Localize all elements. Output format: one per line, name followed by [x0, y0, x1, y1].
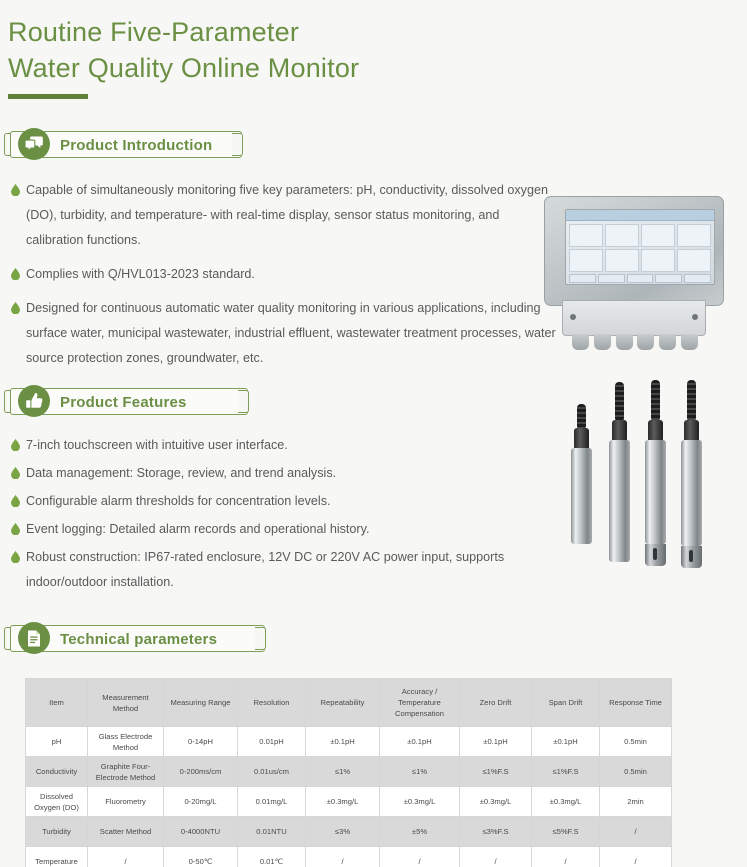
table-row: Turbidity Scatter Method 0-4000NTU 0.01N…	[26, 817, 672, 847]
speech-bubble-icon	[18, 128, 50, 160]
table-cell: Graphite Four-Electrode Method	[88, 757, 164, 787]
water-drop-bullet-icon	[11, 551, 20, 563]
screen-grid-cell	[605, 249, 639, 272]
cable-gland-row	[572, 334, 698, 350]
title-underline	[8, 94, 88, 99]
table-cell: 0.5min	[600, 727, 672, 757]
page-title-line-2: Water Quality Online Monitor	[8, 50, 747, 86]
section-banner-technical: Technical parameters	[4, 622, 747, 656]
table-cell: Temperature	[26, 847, 88, 867]
table-row: pH Glass Electrode Method 0-14pH 0.01pH …	[26, 727, 672, 757]
table-header-cell: Repeatability	[306, 679, 380, 727]
table-cell: /	[306, 847, 380, 867]
table-cell: ≤1%F.S	[532, 757, 600, 787]
list-item: Capable of simultaneously monitoring fiv…	[0, 178, 560, 253]
product-features-section: Product Features 7-inch touchscreen with…	[0, 385, 560, 598]
table-cell: /	[380, 847, 460, 867]
sensor-probe	[571, 404, 592, 544]
enclosure-screw-icon	[570, 314, 576, 320]
table-cell: ≤1%	[306, 757, 380, 787]
table-cell: ±0.1pH	[380, 727, 460, 757]
screen-grid-cell	[641, 224, 675, 247]
table-header-cell: Accuracy / Temperature Compensation	[380, 679, 460, 727]
technical-parameters-table: Item Measurement Method Measuring Range …	[25, 678, 672, 867]
table-cell: /	[532, 847, 600, 867]
banner-bracket-right	[255, 627, 266, 650]
screen-grid-cell	[641, 249, 675, 272]
table-cell: ±0.3mg/L	[306, 787, 380, 817]
table-cell: Fluorometry	[88, 787, 164, 817]
probe-barrel	[681, 440, 702, 546]
screen-grid-cell	[605, 224, 639, 247]
probe-cable	[615, 382, 624, 422]
page-title-line-1: Routine Five-Parameter	[8, 14, 747, 50]
product-introduction-section: Product Introduction Capable of simultan…	[0, 128, 560, 380]
water-drop-bullet-icon	[11, 495, 20, 507]
list-item-text: Complies with Q/HVL013-2023 standard.	[26, 267, 255, 281]
table-cell: ±5%	[380, 817, 460, 847]
document-icon	[18, 622, 50, 654]
probe-barrel	[645, 440, 666, 544]
cable-gland	[572, 334, 589, 350]
table-cell: 0.01us/cm	[238, 757, 306, 787]
probe-cable	[651, 380, 660, 422]
table-cell: ±0.1pH	[532, 727, 600, 757]
table-cell: /	[460, 847, 532, 867]
list-item-text: 7-inch touchscreen with intuitive user i…	[26, 438, 288, 452]
screen-grid-cell	[569, 224, 603, 247]
water-drop-bullet-icon	[11, 439, 20, 451]
probe-barrel	[571, 448, 592, 544]
table-cell: 2min	[600, 787, 672, 817]
table-row: Dissolved Oxygen (DO) Fluorometry 0-20mg…	[26, 787, 672, 817]
table-cell: 0.01NTU	[238, 817, 306, 847]
screen-grid-cell	[677, 249, 711, 272]
table-header-cell: Span Drift	[532, 679, 600, 727]
table-cell: 0.5min	[600, 757, 672, 787]
section-heading-features: Product Features	[60, 394, 187, 411]
controller-enclosure-lid	[544, 196, 724, 306]
section-heading-technical: Technical parameters	[60, 631, 217, 648]
probe-tip-guard	[645, 544, 666, 566]
table-cell: Turbidity	[26, 817, 88, 847]
section-banner-introduction: Product Introduction	[4, 128, 560, 162]
table-header-cell: Item	[26, 679, 88, 727]
sensor-probes-product-image	[563, 378, 747, 600]
screen-parameter-grid	[569, 224, 711, 272]
water-drop-bullet-icon	[11, 523, 20, 535]
table-cell: /	[88, 847, 164, 867]
list-item-text: Event logging: Detailed alarm records an…	[26, 522, 370, 536]
table-cell: 0.01℃	[238, 847, 306, 867]
table-cell: 0-14pH	[164, 727, 238, 757]
table-cell: ±0.3mg/L	[460, 787, 532, 817]
table-cell: 0.01pH	[238, 727, 306, 757]
page-title: Routine Five-Parameter Water Quality Onl…	[0, 0, 747, 99]
probe-cable	[577, 404, 586, 430]
sensor-probe	[681, 380, 702, 568]
table-header-cell: Zero Drift	[460, 679, 532, 727]
table-cell: ≤3%F.S	[460, 817, 532, 847]
controller-touchscreen	[565, 209, 715, 285]
probe-tip-slot	[653, 548, 657, 560]
thumbs-up-icon	[18, 385, 50, 417]
probe-neck	[684, 420, 699, 442]
table-cell: ≤3%	[306, 817, 380, 847]
screen-button	[655, 274, 682, 283]
screen-title-bar	[566, 210, 714, 221]
sensor-probe	[609, 382, 630, 562]
table-cell: Conductivity	[26, 757, 88, 787]
probe-neck	[574, 428, 589, 450]
table-cell: 0-200ms/cm	[164, 757, 238, 787]
banner-bracket-right	[238, 390, 249, 413]
table-cell: ≤1%F.S	[460, 757, 532, 787]
list-item: Data management: Storage, review, and tr…	[0, 461, 560, 486]
screen-grid-cell	[677, 224, 711, 247]
screen-button	[598, 274, 625, 283]
table-row: Conductivity Graphite Four-Electrode Met…	[26, 757, 672, 787]
list-item: Configurable alarm thresholds for concen…	[0, 489, 560, 514]
cable-gland	[681, 334, 698, 350]
water-drop-bullet-icon	[11, 302, 20, 314]
technical-parameters-section: Technical parameters Item Measurement Me…	[0, 622, 747, 867]
probe-cable	[687, 380, 696, 422]
cable-gland	[594, 334, 611, 350]
table-cell: 0-4000NTU	[164, 817, 238, 847]
sensor-probe	[645, 380, 666, 566]
list-item: Event logging: Detailed alarm records an…	[0, 517, 560, 542]
list-item-text: Capable of simultaneously monitoring fiv…	[26, 183, 548, 247]
screen-grid-cell	[569, 249, 603, 272]
list-item-text: Data management: Storage, review, and tr…	[26, 466, 336, 480]
features-bullet-list: 7-inch touchscreen with intuitive user i…	[0, 433, 560, 595]
table-row: Temperature / 0-50℃ 0.01℃ / / / / /	[26, 847, 672, 867]
probe-tip-guard	[681, 546, 702, 568]
list-item: Robust construction: IP67-rated enclosur…	[0, 545, 560, 595]
introduction-bullet-list: Capable of simultaneously monitoring fiv…	[0, 178, 560, 371]
screen-button-bar	[569, 274, 711, 283]
table-cell: Dissolved Oxygen (DO)	[26, 787, 88, 817]
controller-enclosure-body	[562, 300, 706, 336]
table-cell: ±0.1pH	[460, 727, 532, 757]
banner-bracket-right	[232, 133, 243, 156]
water-drop-bullet-icon	[11, 268, 20, 280]
screen-button	[569, 274, 596, 283]
table-header-cell: Measuring Range	[164, 679, 238, 727]
cable-gland	[659, 334, 676, 350]
table-cell: ≤5%F.S	[532, 817, 600, 847]
table-cell: /	[600, 817, 672, 847]
table-cell: 0-50℃	[164, 847, 238, 867]
water-drop-bullet-icon	[11, 184, 20, 196]
table-header-row: Item Measurement Method Measuring Range …	[26, 679, 672, 727]
table-cell: ±0.1pH	[306, 727, 380, 757]
cable-gland	[616, 334, 633, 350]
table-cell: ±0.3mg/L	[380, 787, 460, 817]
table-cell: ≤1%	[380, 757, 460, 787]
probe-barrel	[609, 440, 630, 562]
section-banner-features: Product Features	[4, 385, 560, 419]
list-item: 7-inch touchscreen with intuitive user i…	[0, 433, 560, 458]
table-header-cell: Response Time	[600, 679, 672, 727]
table-cell: Scatter Method	[88, 817, 164, 847]
list-item-text: Robust construction: IP67-rated enclosur…	[26, 550, 504, 589]
list-item: Complies with Q/HVL013-2023 standard.	[0, 262, 560, 287]
probe-tip-slot	[689, 550, 693, 562]
enclosure-screw-icon	[692, 314, 698, 320]
table-cell: ±0.3mg/L	[532, 787, 600, 817]
controller-product-image	[536, 196, 732, 346]
probe-neck	[612, 420, 627, 442]
list-item-text: Configurable alarm thresholds for concen…	[26, 494, 331, 508]
list-item-text: Designed for continuous automatic water …	[26, 301, 556, 365]
screen-button	[684, 274, 711, 283]
table-header-cell: Measurement Method	[88, 679, 164, 727]
cable-gland	[637, 334, 654, 350]
probe-neck	[648, 420, 663, 442]
list-item: Designed for continuous automatic water …	[0, 296, 560, 371]
screen-button	[627, 274, 654, 283]
table-cell: Glass Electrode Method	[88, 727, 164, 757]
water-drop-bullet-icon	[11, 467, 20, 479]
table-cell: 0-20mg/L	[164, 787, 238, 817]
table-header-cell: Resolution	[238, 679, 306, 727]
table-cell: pH	[26, 727, 88, 757]
table-cell: /	[600, 847, 672, 867]
table-cell: 0.01mg/L	[238, 787, 306, 817]
section-heading-introduction: Product Introduction	[60, 137, 212, 154]
